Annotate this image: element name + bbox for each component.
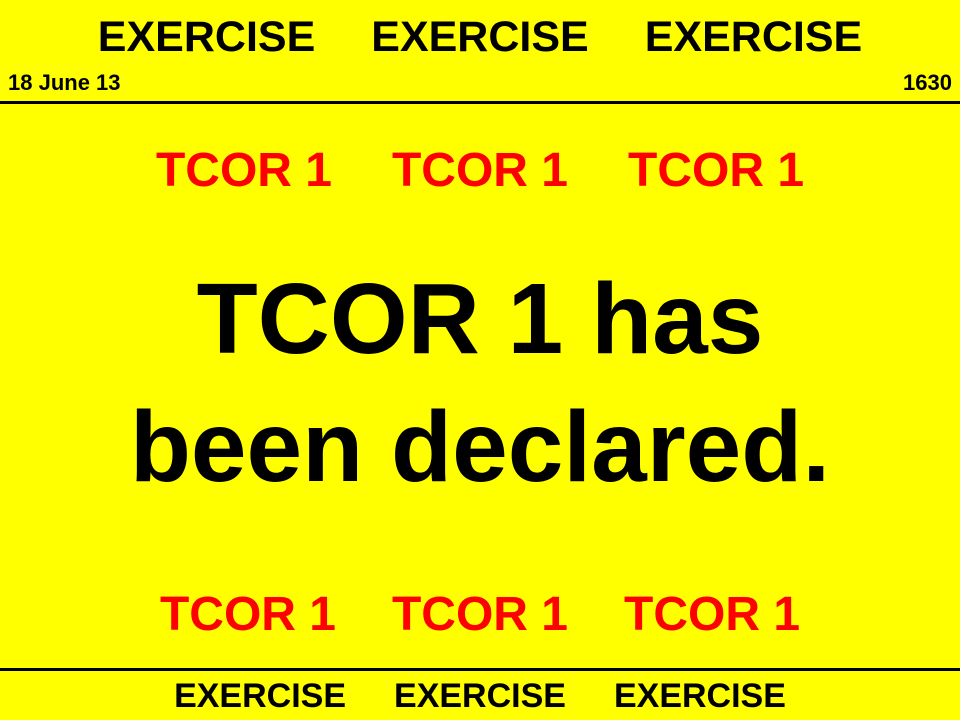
header-date: 18 June 13 [8,72,121,94]
header-exercise-label-3: EXERCISE [645,16,862,59]
tcor-bottom-label-1: TCOR 1 [160,591,336,639]
main-message-line-2: been declared. [130,383,830,511]
tcor-bottom-label-3: TCOR 1 [624,591,800,639]
header-exercise-banner: EXERCISE EXERCISE EXERCISE [0,12,960,62]
tcor-top-label-1: TCOR 1 [156,147,332,195]
footer-exercise-banner: EXERCISE EXERCISE EXERCISE [0,676,960,716]
tcor-top-label-2: TCOR 1 [392,147,568,195]
exercise-notification-slide: EXERCISE EXERCISE EXERCISE 18 June 13 16… [0,0,960,720]
footer-exercise-label-1: EXERCISE [174,679,346,713]
footer-exercise-label-2: EXERCISE [394,679,566,713]
footer-divider [0,668,960,671]
main-message-line-1: TCOR 1 has [197,255,764,383]
header-time: 1630 [903,72,952,94]
main-message: TCOR 1 has been declared. [0,255,960,515]
tcor-bottom-label-2: TCOR 1 [392,591,568,639]
footer-exercise-label-3: EXERCISE [614,679,786,713]
header-divider [0,101,960,104]
header-exercise-label-2: EXERCISE [371,16,588,59]
tcor-banner-bottom: TCOR 1 TCOR 1 TCOR 1 [0,586,960,644]
header-meta-row: 18 June 13 1630 [0,72,960,100]
tcor-banner-top: TCOR 1 TCOR 1 TCOR 1 [0,142,960,200]
header-exercise-label-1: EXERCISE [98,16,315,59]
tcor-top-label-3: TCOR 1 [628,147,804,195]
